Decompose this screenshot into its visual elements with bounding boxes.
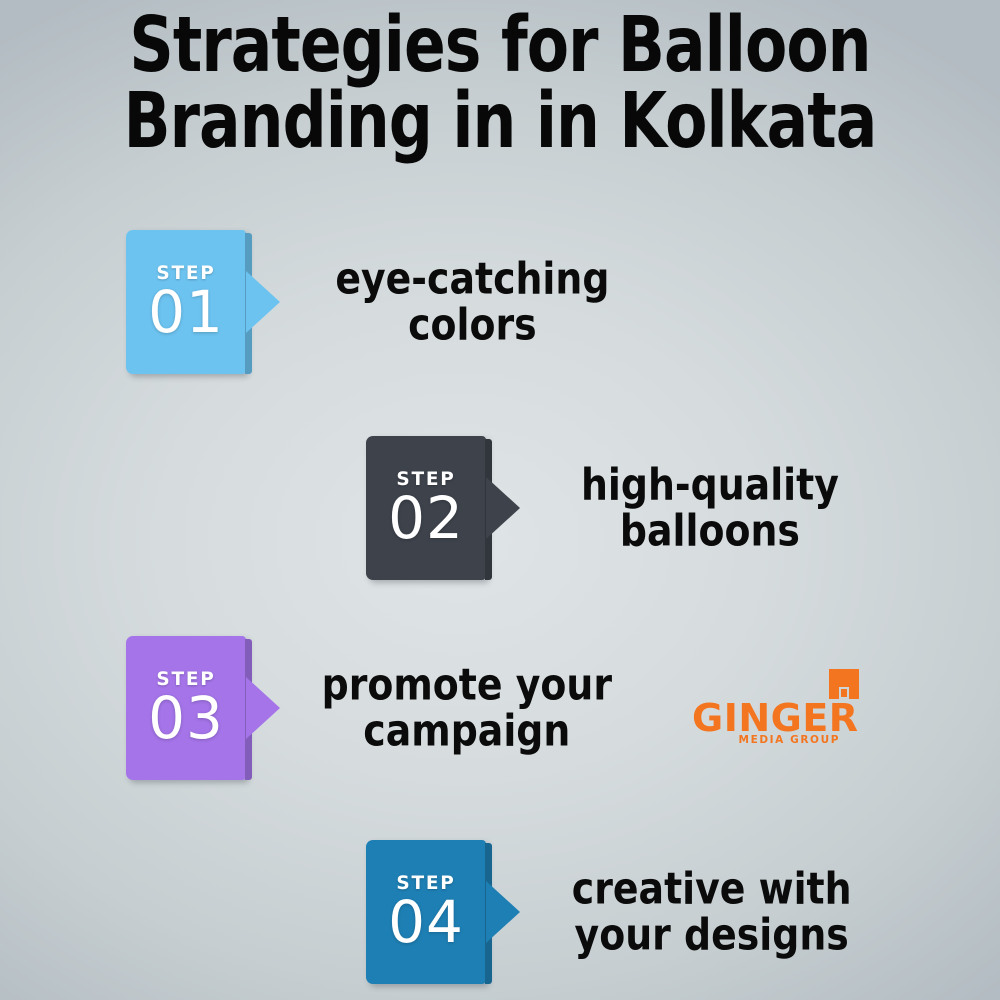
step-number-04: 04 (366, 892, 486, 953)
infographic-poster: Strategies for Balloon Branding in in Ko… (0, 0, 1000, 1000)
step-badge-02: STEP 02 (366, 436, 486, 580)
step-text-01: eye-catching colors (286, 256, 658, 348)
step-text-02: high-quality balloons (526, 462, 893, 554)
step-text-03-inner: promote your campaign (322, 662, 612, 754)
step-text-04: creative with your designs (530, 866, 893, 958)
badge-arrow-icon (486, 881, 520, 943)
logo-tagline: MEDIA GROUP (692, 734, 840, 746)
step-text-01-inner: eye-catching colors (335, 256, 609, 348)
step-row-03: STEP 03 promote your campaign (118, 628, 648, 788)
badge-arrow-icon (246, 677, 280, 739)
brand-logo: GINGER MEDIA GROUP (692, 668, 852, 756)
step-text-02-inner: high-quality balloons (581, 462, 839, 554)
step-row-01: STEP 01 eye-catching colors (118, 222, 658, 382)
step-badge-03: STEP 03 (126, 636, 246, 780)
step-text-04-inner: creative with your designs (572, 866, 852, 958)
badge-arrow-icon (486, 477, 520, 539)
page-title: Strategies for Balloon Branding in in Ko… (100, 8, 900, 160)
step-badge-01: STEP 01 (126, 230, 246, 374)
step-row-04: STEP 04 creative with your designs (358, 832, 893, 992)
badge-arrow-icon (246, 271, 280, 333)
step-number-03: 03 (126, 688, 246, 749)
nested-squares-icon (827, 668, 861, 700)
step-number-02: 02 (366, 488, 486, 549)
step-badge-04: STEP 04 (366, 840, 486, 984)
step-row-02: STEP 02 high-quality balloons (358, 428, 893, 588)
step-number-01: 01 (126, 282, 246, 343)
step-text-03: promote your campaign (286, 662, 648, 754)
